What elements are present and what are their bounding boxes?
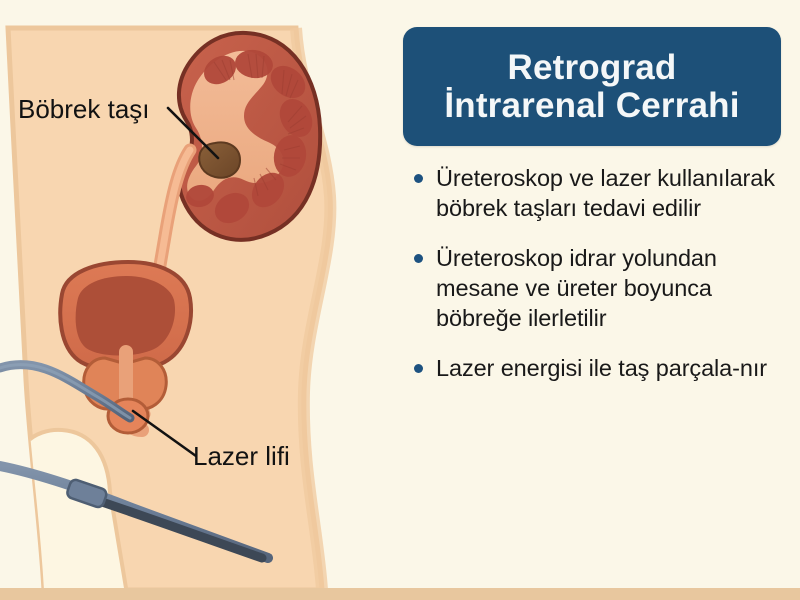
label-kidney-stone: Böbrek taşı bbox=[18, 96, 150, 122]
list-item: Üreteroskop ve lazer kullanılarak böbrek… bbox=[400, 163, 796, 224]
bullet-text: Lazer energisi ile taş parçala-nır bbox=[436, 355, 767, 381]
bullet-text: Üreteroskop idrar yolundan mesane ve üre… bbox=[436, 245, 717, 332]
title-line-2: İntrarenal Cerrahi bbox=[444, 87, 739, 125]
kidney bbox=[179, 33, 320, 240]
bullet-text: Üreteroskop ve lazer kullanılarak böbrek… bbox=[436, 165, 775, 221]
bladder-lumen bbox=[76, 276, 175, 356]
label-laser-fiber: Lazer lifi bbox=[193, 443, 290, 469]
bullet-dot-icon bbox=[414, 174, 423, 183]
bullet-dot-icon bbox=[414, 254, 423, 263]
bullet-dot-icon bbox=[414, 364, 423, 373]
bullet-list: Üreteroskop ve lazer kullanılarak böbrek… bbox=[400, 163, 796, 402]
list-item: Üreteroskop idrar yolundan mesane ve üre… bbox=[400, 243, 796, 334]
list-item: Lazer energisi ile taş parçala-nır bbox=[400, 353, 796, 383]
info-panel: Retrograd İntrarenal Cerrahi Üreteroskop… bbox=[396, 0, 800, 600]
kidney-stone bbox=[199, 142, 240, 177]
infographic-canvas: Böbrek taşı Lazer lifi Retrograd İntrare… bbox=[0, 0, 800, 600]
title-line-1: Retrograd bbox=[507, 49, 676, 87]
title-banner: Retrograd İntrarenal Cerrahi bbox=[403, 27, 781, 146]
